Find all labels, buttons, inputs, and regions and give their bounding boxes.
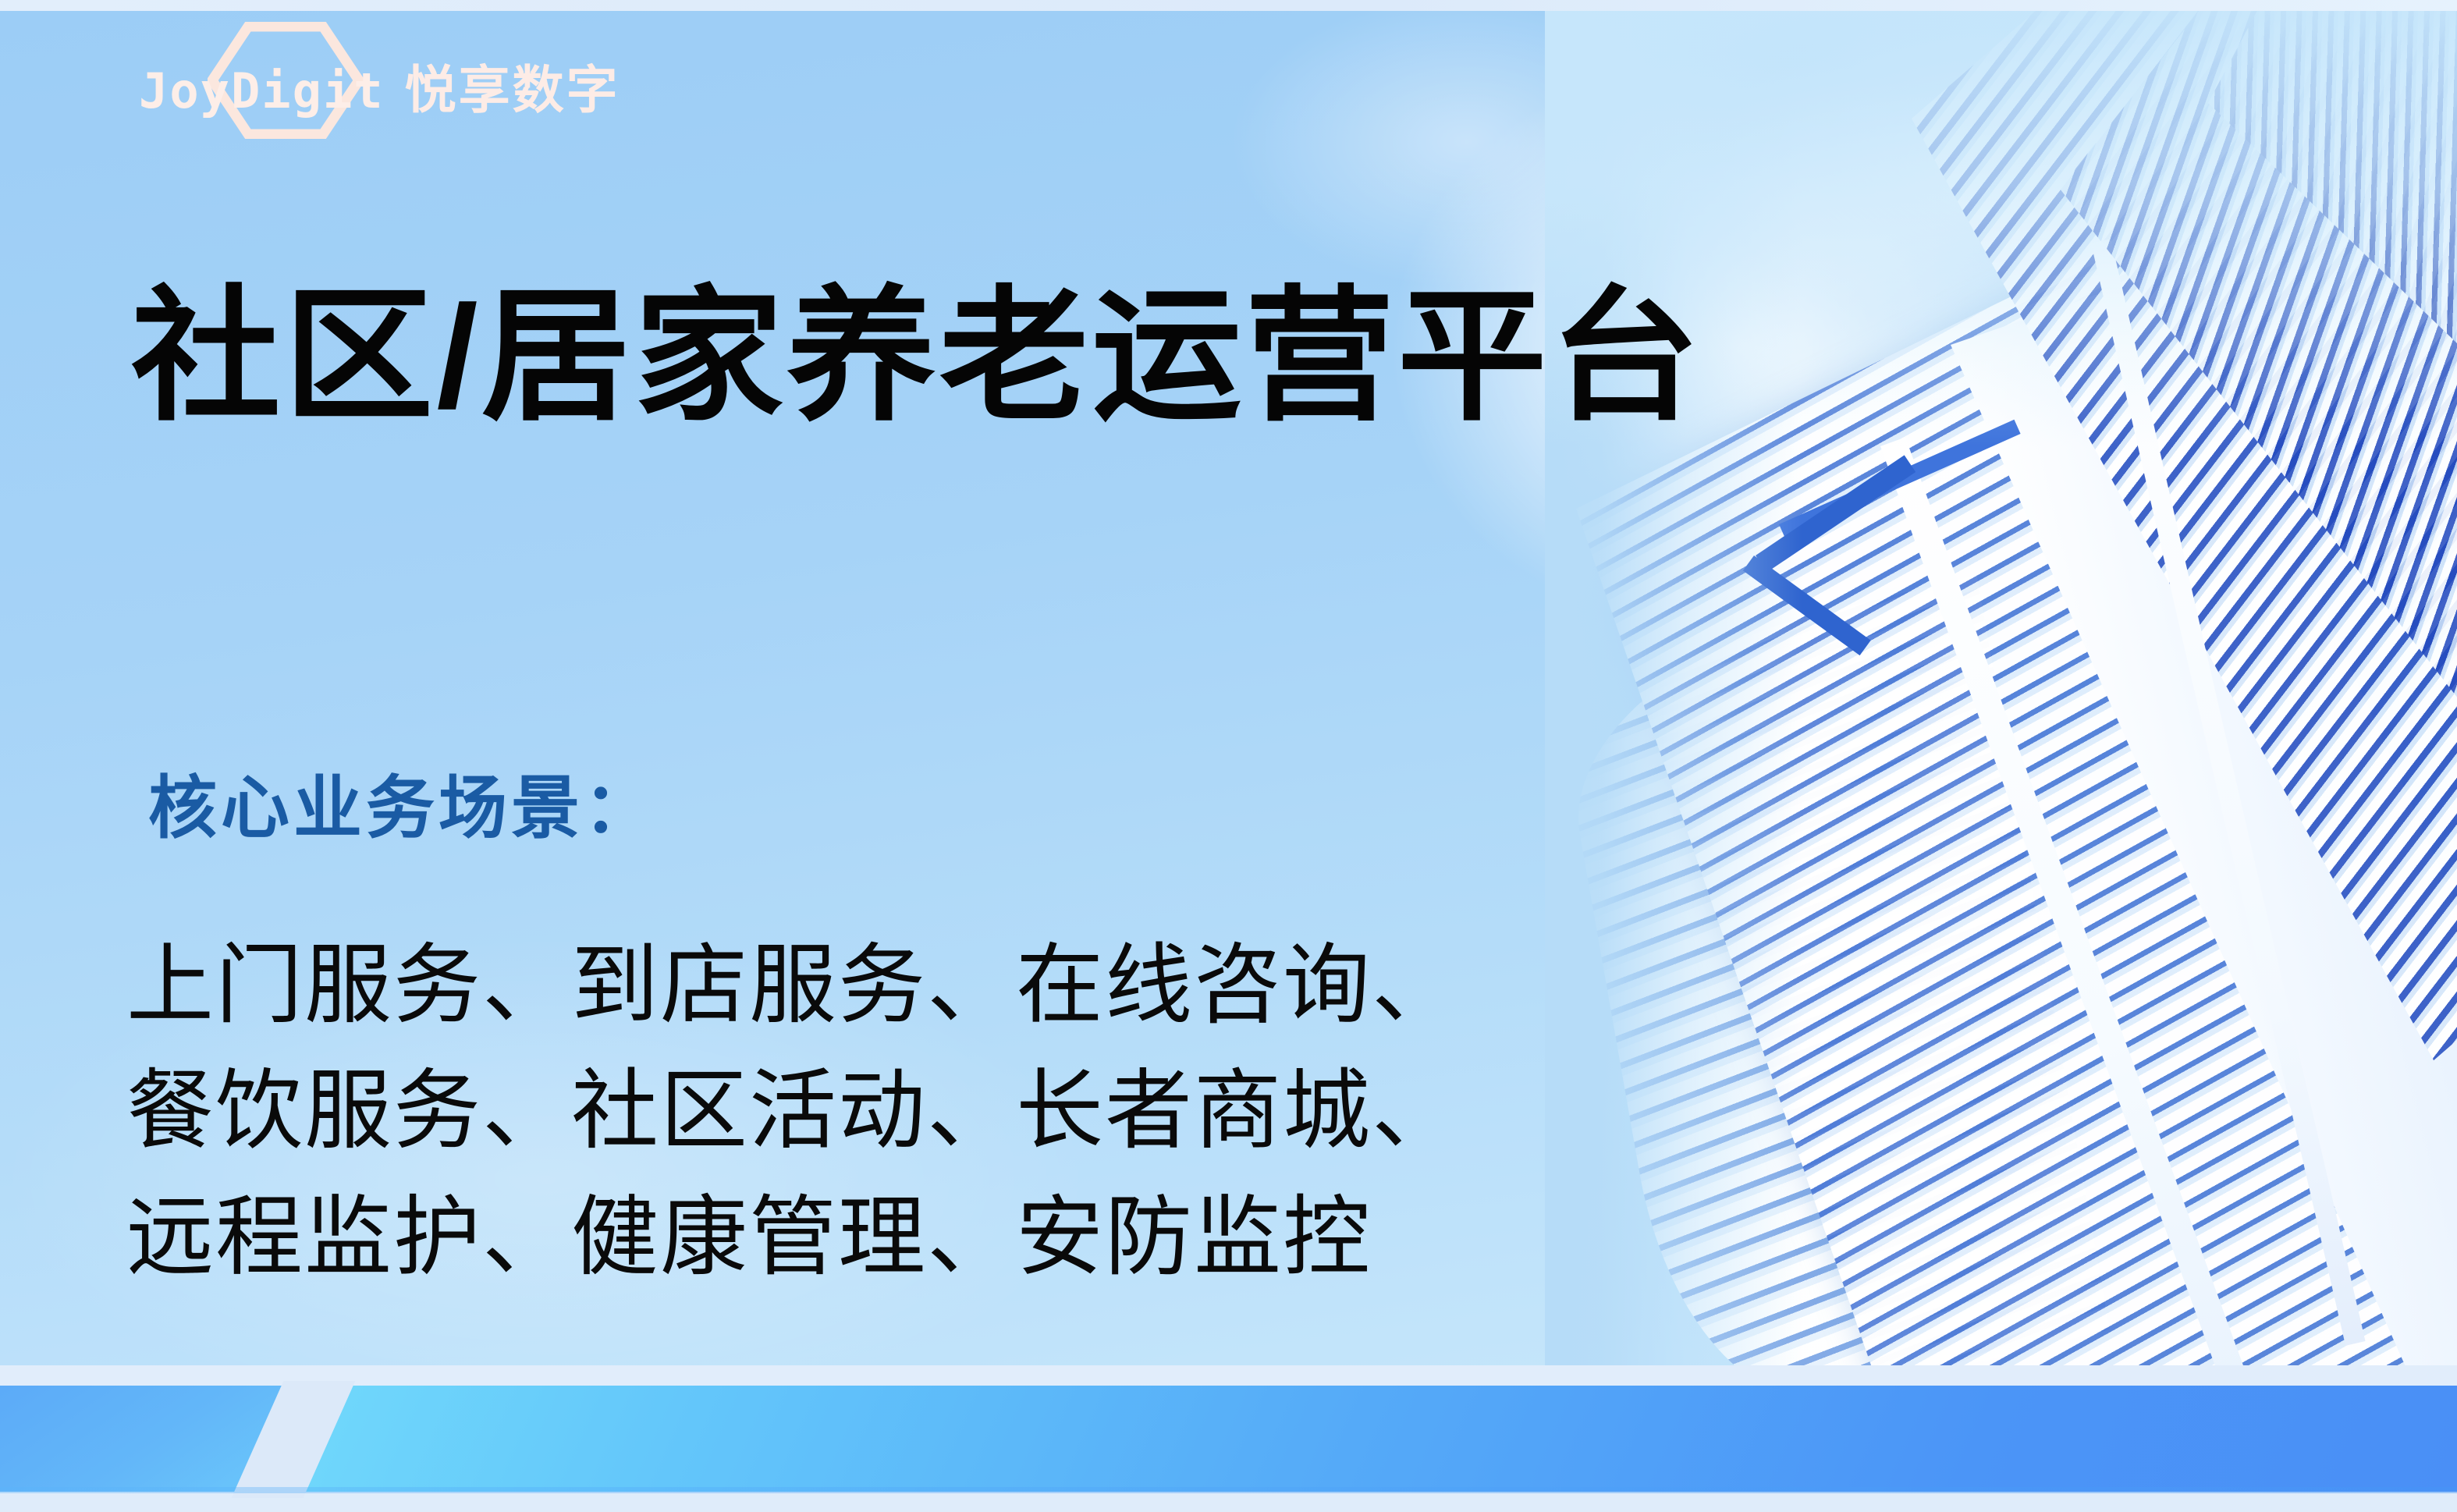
business-scenarios-list: 上门服务、到店服务、在线咨询、 餐饮服务、社区活动、长者商城、 远程监护、健康管…: [126, 922, 1461, 1300]
section-subtitle: 核心业务场景：: [148, 771, 656, 847]
slide-canvas: JoyDigit 悦享数字 社区/居家养老运营平台 核心业务场景： 上门服务、到…: [0, 0, 2457, 1512]
scenario-line: 远程监护、健康管理、安防监控: [126, 1174, 1461, 1300]
top-edge-strip: [0, 0, 2457, 11]
logo-chinese-name: 悦享数字: [405, 64, 620, 115]
logo-wordmark: JoyDigit: [139, 67, 385, 115]
scenario-line: 上门服务、到店服务、在线咨询、: [126, 922, 1461, 1048]
page-title: 社区/居家养老运营平台: [131, 272, 1703, 442]
scenario-line: 餐饮服务、社区活动、长者商城、: [126, 1048, 1461, 1173]
banner-main-parallelogram: [304, 1386, 2457, 1492]
skyscraper-photo: [1545, 9, 2457, 1389]
banner-bottom-shade: [0, 1487, 2457, 1493]
bottom-decorative-banner: [0, 1365, 2457, 1512]
brand-logo: JoyDigit 悦享数字: [139, 48, 620, 115]
